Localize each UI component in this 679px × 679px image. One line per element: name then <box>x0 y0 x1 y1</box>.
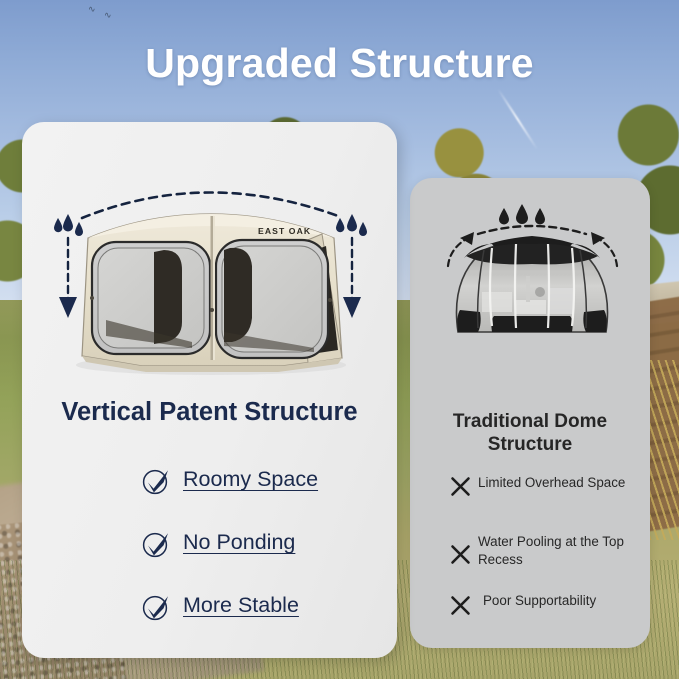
feature-item: More Stable <box>22 590 397 653</box>
screenshot-stage: ∿ ∿ Upgraded Structure <box>0 0 679 679</box>
water-droplets-right-icon <box>336 214 367 236</box>
down-arrow-right-icon <box>343 238 361 318</box>
right-card-heading: Traditional Dome Structure <box>410 410 650 456</box>
vertical-gazebo-illustration: EAST OAK <box>46 160 376 380</box>
x-icon <box>450 595 471 616</box>
con-item: Poor Supportability <box>410 592 650 651</box>
traditional-dome-card: Traditional Dome Structure Limited Overh… <box>410 178 650 648</box>
con-item-label: Poor Supportability <box>483 592 648 610</box>
down-arrow-left-icon <box>59 238 77 318</box>
x-icon <box>450 544 471 565</box>
falling-droplets-icon <box>499 204 545 225</box>
feature-item-label: Roomy Space <box>183 467 318 492</box>
traditional-dome-illustration <box>430 200 635 365</box>
check-circle-icon <box>141 529 171 559</box>
con-item: Water Pooling at the Top Recess <box>410 533 650 592</box>
water-droplets-left-icon <box>54 214 83 236</box>
x-icon <box>450 476 471 497</box>
feature-list: Roomy Space No Ponding More Stable <box>22 464 397 653</box>
page-title: Upgraded Structure <box>0 40 679 87</box>
wall-panel-right <box>216 240 328 358</box>
con-item-label: Water Pooling at the Top Recess <box>478 533 643 568</box>
con-list: Limited Overhead Space Water Pooling at … <box>410 474 650 651</box>
feature-item: No Ponding <box>22 527 397 590</box>
check-circle-icon <box>141 592 171 622</box>
vertical-patent-card: EAST OAK Vertical Patent Structure Roomy… <box>22 122 397 658</box>
left-card-heading: Vertical Patent Structure <box>22 398 397 427</box>
feature-item: Roomy Space <box>22 464 397 527</box>
feature-item-label: No Ponding <box>183 530 295 555</box>
feature-item-label: More Stable <box>183 593 299 618</box>
bird-icon: ∿ <box>104 10 112 21</box>
wall-panel-left <box>92 242 210 354</box>
dashed-roof-curve <box>478 226 586 234</box>
con-item: Limited Overhead Space <box>410 474 650 533</box>
right-heading-line-1: Traditional Dome <box>453 411 607 432</box>
right-heading-line-2: Structure <box>488 434 572 455</box>
brand-label: EAST OAK <box>258 226 311 236</box>
check-circle-icon <box>141 466 171 496</box>
con-item-label: Limited Overhead Space <box>478 474 643 492</box>
bird-icon: ∿ <box>88 4 96 15</box>
